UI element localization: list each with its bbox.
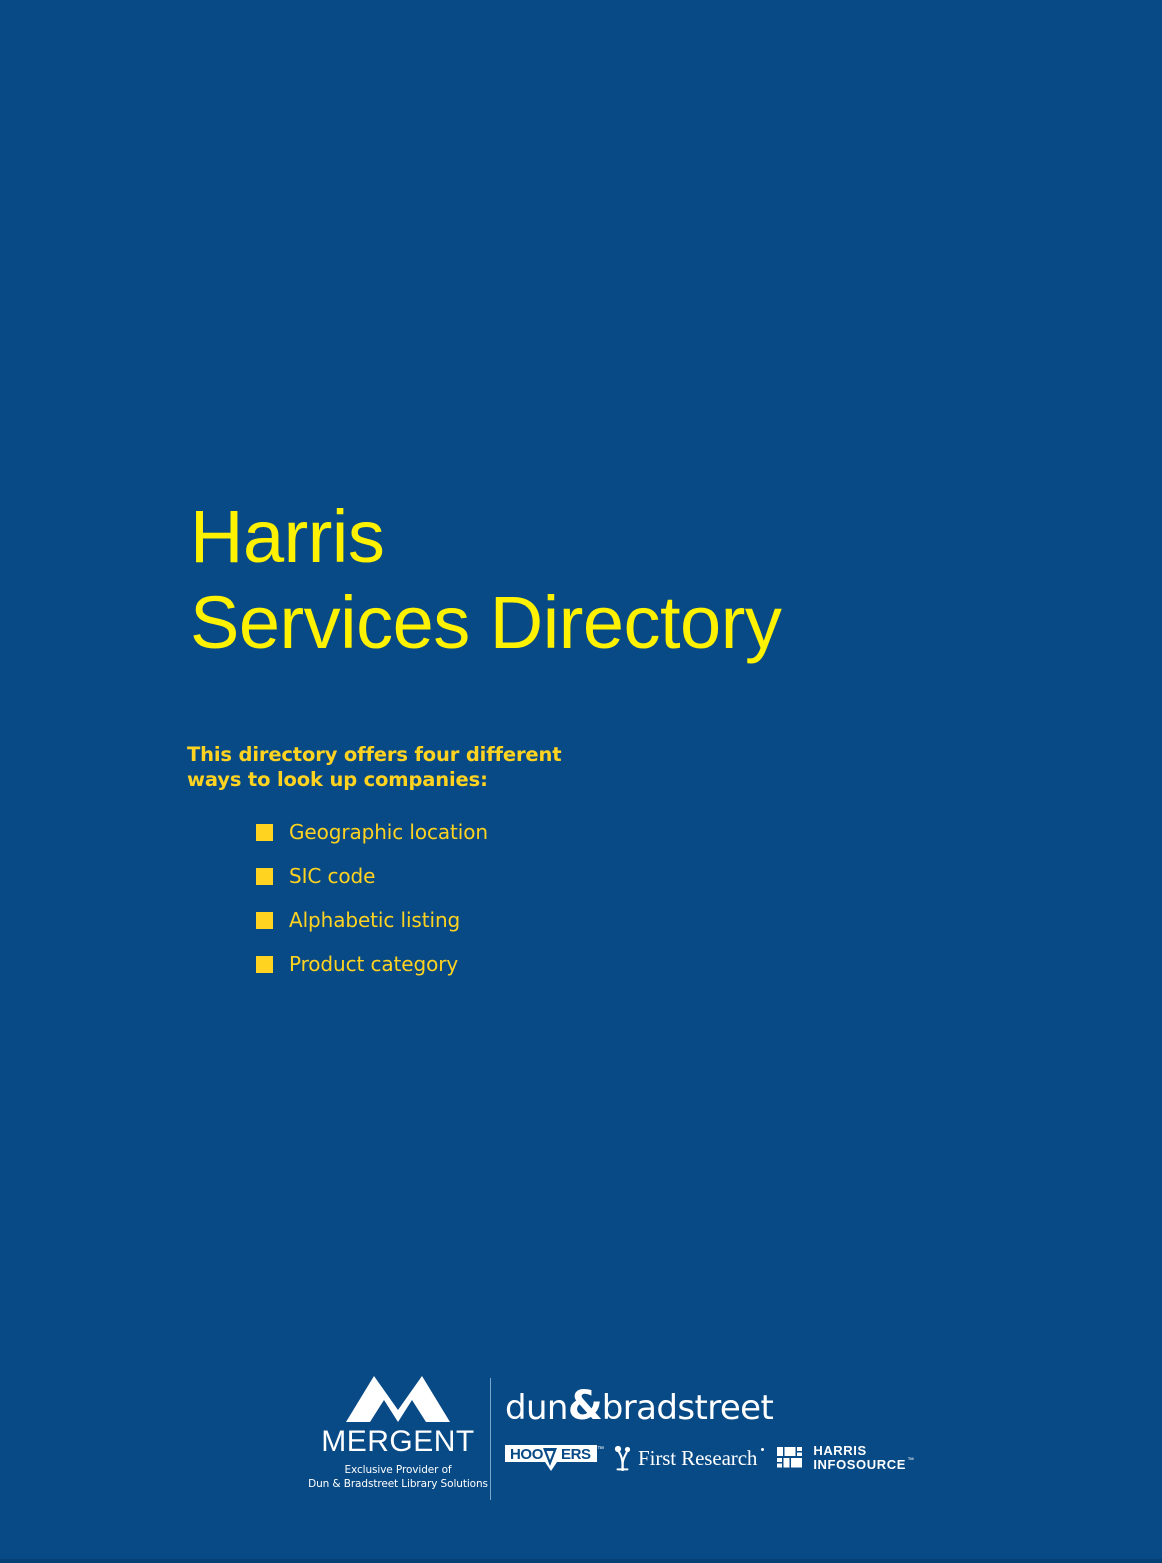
mountain-m-icon: [344, 1372, 452, 1424]
sublogo-row: HOO ERS ™: [505, 1444, 905, 1472]
cover-page: Harris Services Directory This directory…: [0, 0, 1162, 1563]
harris-infosource-line-2: INFOSOURCE: [813, 1458, 906, 1472]
mergent-tagline-line-2: Dun & Bradstreet Library Solutions: [308, 1477, 488, 1491]
intro-text: This directory offers four different way…: [187, 742, 607, 792]
title-line-2: Services Directory: [190, 580, 950, 666]
page-bottom-edge: [0, 1559, 1162, 1563]
dun-bradstreet-wordmark: dun&bradstreet: [505, 1386, 905, 1428]
bullet-label: Alphabetic listing: [289, 909, 460, 931]
dnb-ampersand: &: [568, 1383, 602, 1429]
first-research-dot-icon: [761, 1448, 764, 1451]
bullet-square-icon: [256, 956, 273, 973]
harris-infosource-trademark: ™: [908, 1454, 915, 1468]
svg-text:HOO: HOO: [510, 1446, 544, 1463]
page-title: Harris Services Directory: [190, 494, 950, 666]
intro-line-2: ways to look up companies:: [187, 767, 607, 792]
list-item: SIC code: [256, 854, 726, 898]
harris-infosource-line-1: HARRIS: [813, 1444, 906, 1458]
dnb-word-dun: dun: [505, 1388, 568, 1428]
dun-bradstreet-block: dun&bradstreet HOO ERS ™: [505, 1386, 905, 1472]
footer-logo-bar: MERGENT Exclusive Provider of Dun & Brad…: [300, 1372, 900, 1507]
dnb-word-bradstreet: bradstreet: [602, 1388, 773, 1428]
bullet-label: SIC code: [289, 865, 375, 887]
footer-divider: [490, 1378, 491, 1500]
first-research-wordmark: First Research: [638, 1447, 757, 1469]
title-line-1: Harris: [190, 494, 950, 580]
hoovers-trademark: ™: [597, 1446, 604, 1453]
harris-infosource-wordmark: HARRIS INFOSOURCE ™: [813, 1444, 906, 1472]
mergent-tagline-line-1: Exclusive Provider of: [308, 1463, 488, 1477]
list-item: Geographic location: [256, 810, 726, 854]
lookup-methods-list: Geographic location SIC code Alphabetic …: [256, 810, 726, 986]
bullet-square-icon: [256, 912, 273, 929]
first-research-label: First Research: [638, 1446, 757, 1470]
hoovers-mark-icon: HOO ERS: [505, 1445, 597, 1471]
harris-infosource-logo: HARRIS INFOSOURCE ™: [777, 1444, 906, 1472]
sprout-icon: [613, 1445, 633, 1471]
block-grid-icon: [777, 1446, 805, 1470]
mergent-logo: MERGENT Exclusive Provider of Dun & Brad…: [308, 1372, 488, 1491]
svg-text:ERS: ERS: [561, 1446, 591, 1463]
list-item: Product category: [256, 942, 726, 986]
bullet-label: Geographic location: [289, 821, 488, 843]
list-item: Alphabetic listing: [256, 898, 726, 942]
intro-line-1: This directory offers four different: [187, 742, 607, 767]
bullet-square-icon: [256, 868, 273, 885]
mergent-wordmark: MERGENT: [308, 1426, 488, 1457]
bullet-square-icon: [256, 824, 273, 841]
hoovers-logo: HOO ERS ™: [505, 1445, 597, 1471]
bullet-label: Product category: [289, 953, 458, 975]
first-research-logo: First Research: [613, 1445, 757, 1471]
